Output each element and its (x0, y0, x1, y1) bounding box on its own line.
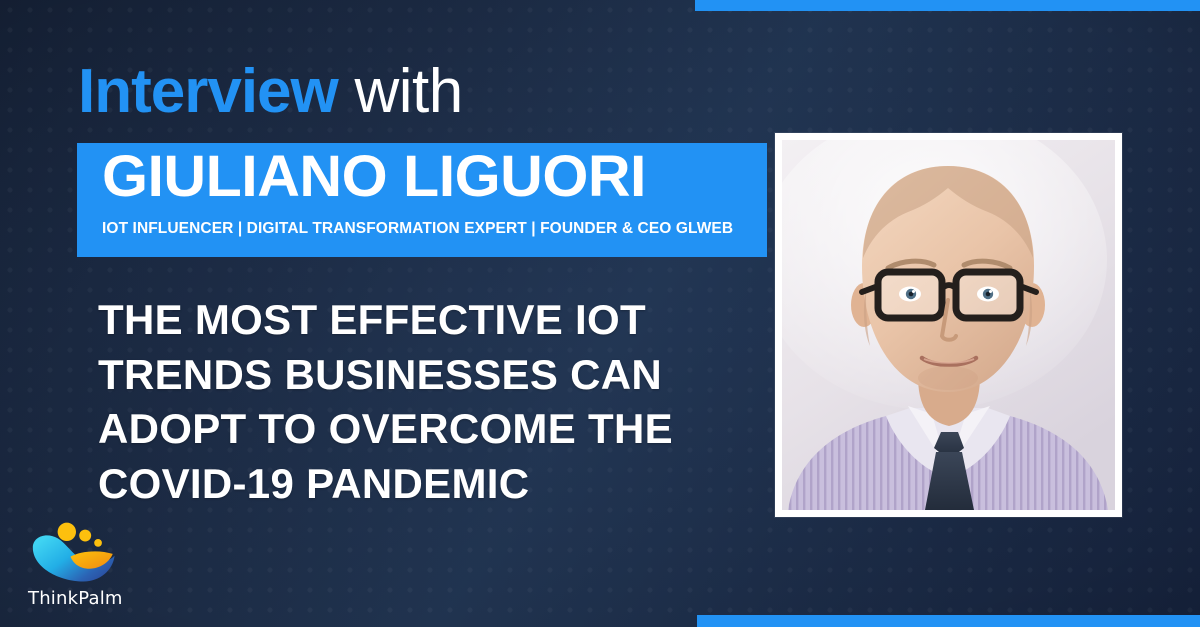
guest-name: GIULIANO LIGUORI (102, 148, 646, 206)
headline-line: COVID-19 PANDEMIC (98, 457, 718, 512)
eyebrow-interview-with: Interview with (78, 61, 463, 123)
thinkpalm-wave-icon (30, 519, 122, 587)
headline-line: TRENDS BUSINESSES CAN (98, 348, 718, 403)
headline-line: ADOPT TO OVERCOME THE (98, 402, 718, 457)
guest-portrait-illustration (782, 140, 1115, 510)
headline-line: THE MOST EFFECTIVE IOT (98, 293, 718, 348)
interview-promo-poster: Interview with GIULIANO LIGUORI IOT INFL… (0, 0, 1200, 627)
guest-name-plate: GIULIANO LIGUORI IOT INFLUENCER | DIGITA… (77, 143, 767, 257)
eyebrow-highlight-word: Interview (78, 57, 338, 126)
poster-content-column: Interview with GIULIANO LIGUORI IOT INFL… (0, 0, 780, 627)
guest-portrait (782, 140, 1115, 510)
thinkpalm-wordmark: ThinkPalm (28, 588, 148, 609)
eyebrow-plain-word: with (338, 57, 463, 126)
guest-portrait-frame (775, 133, 1122, 517)
poster-headline: THE MOST EFFECTIVE IOT TRENDS BUSINESSES… (98, 293, 718, 511)
thinkpalm-logo: ThinkPalm (28, 519, 148, 609)
guest-credentials: IOT INFLUENCER | DIGITAL TRANSFORMATION … (102, 220, 733, 237)
